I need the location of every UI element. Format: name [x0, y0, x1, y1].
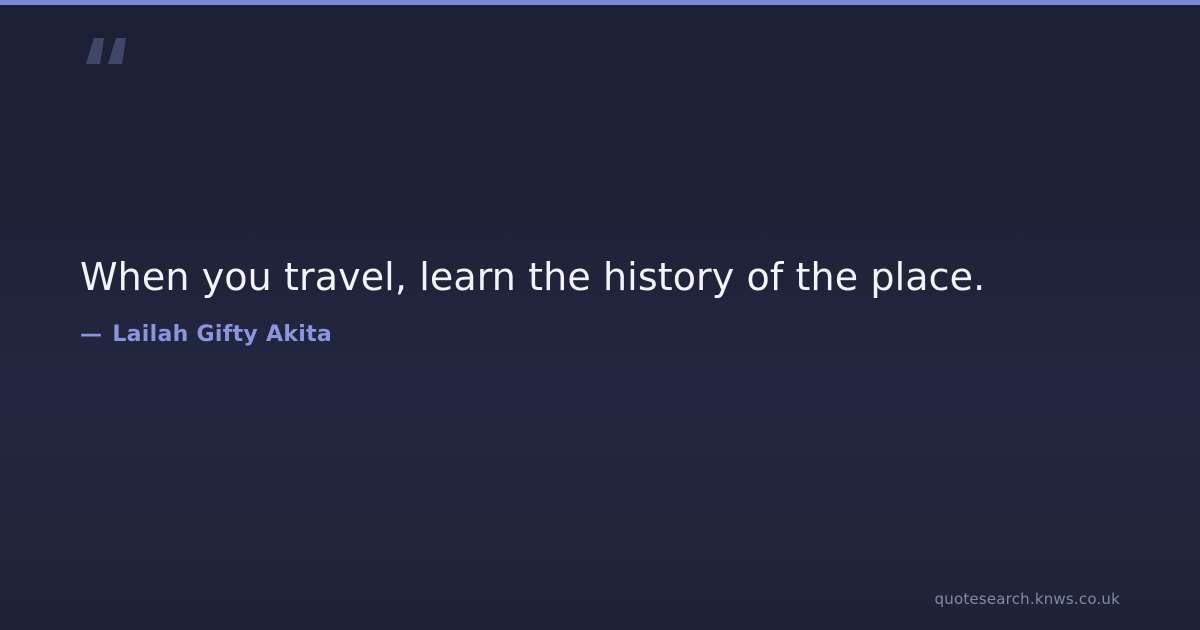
- open-quote-icon: [80, 22, 140, 82]
- quote-attribution: — Lailah Gifty Akita: [80, 322, 1120, 347]
- top-accent-bar: [0, 0, 1200, 5]
- quote-block: When you travel, learn the history of th…: [80, 252, 1120, 347]
- site-footer-url[interactable]: quotesearch.knws.co.uk: [935, 590, 1120, 608]
- quote-author[interactable]: Lailah Gifty Akita: [112, 322, 332, 347]
- quote-card: When you travel, learn the history of th…: [0, 0, 1200, 630]
- attribution-dash: —: [80, 322, 102, 347]
- quote-text: When you travel, learn the history of th…: [80, 252, 1120, 302]
